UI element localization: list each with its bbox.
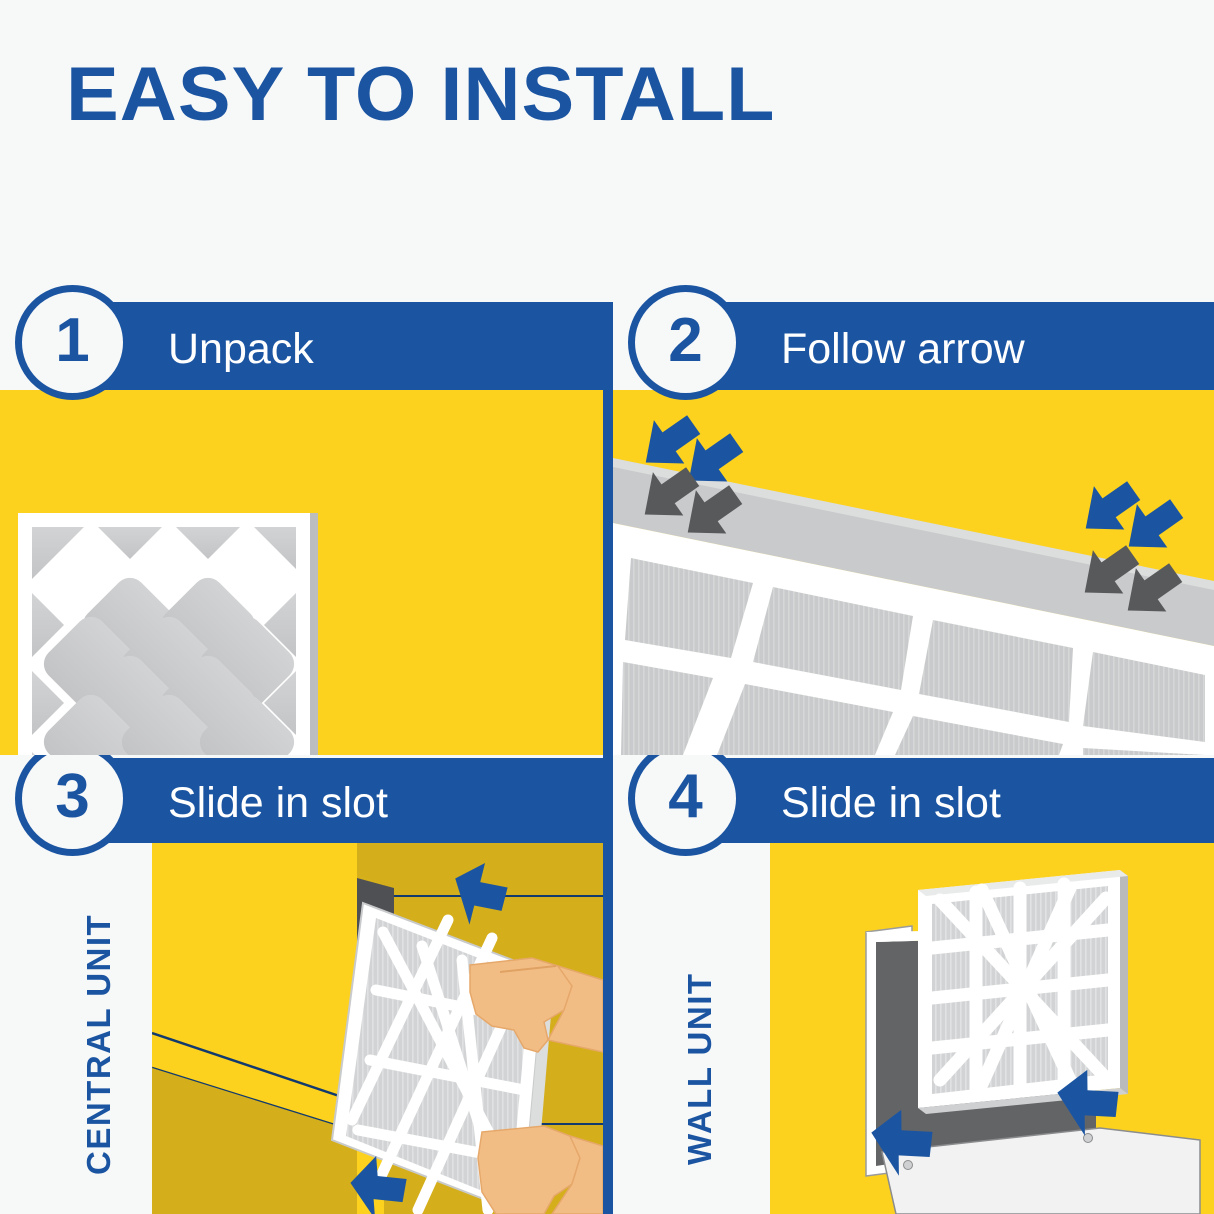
step-4-illustration-area: [770, 840, 1214, 1214]
step-1-label: Unpack: [168, 328, 314, 371]
step-4-number-badge: 4: [628, 755, 743, 856]
step-2-label: Follow arrow: [781, 328, 1025, 371]
tilted-filter-airflow-illustration: [613, 390, 1214, 755]
step-panel-1: Unpack 1: [0, 285, 615, 755]
step-1-number-badge: 1: [15, 285, 130, 400]
central-unit-slot-illustration: [152, 840, 603, 1214]
step-3-number-badge: 3: [15, 755, 130, 856]
step-4-side-label: WALL UNIT: [681, 972, 719, 1165]
step-2-number-badge: 2: [628, 285, 743, 400]
step-2-illustration-area: [613, 390, 1214, 755]
infographic-root: EASY TO INSTALL: [0, 0, 1214, 1214]
step-1-illustration-area: [0, 390, 603, 755]
step-panel-2: Follow arrow 2: [613, 285, 1214, 755]
page-title: EASY TO INSTALL: [66, 56, 775, 134]
step-3-illustration-area: [152, 840, 603, 1214]
step-1-number: 1: [22, 292, 123, 393]
filter-into-vent: [918, 870, 1128, 1114]
airflow-arrow-blue-right: [1069, 469, 1192, 565]
step-4-number: 4: [635, 755, 736, 849]
step-panel-3: CENTRAL UNIT: [0, 755, 615, 1214]
step-4-label: Slide in slot: [781, 782, 1001, 825]
step-panel-4: WALL UNIT: [613, 755, 1214, 1214]
step-2-number: 2: [635, 292, 736, 393]
step-1-header-bar: [60, 302, 613, 390]
step-3-number: 3: [22, 755, 123, 849]
step-3-label: Slide in slot: [168, 782, 388, 825]
wall-unit-vent-illustration: [770, 840, 1214, 1214]
air-filter-front-illustration: [0, 390, 603, 755]
